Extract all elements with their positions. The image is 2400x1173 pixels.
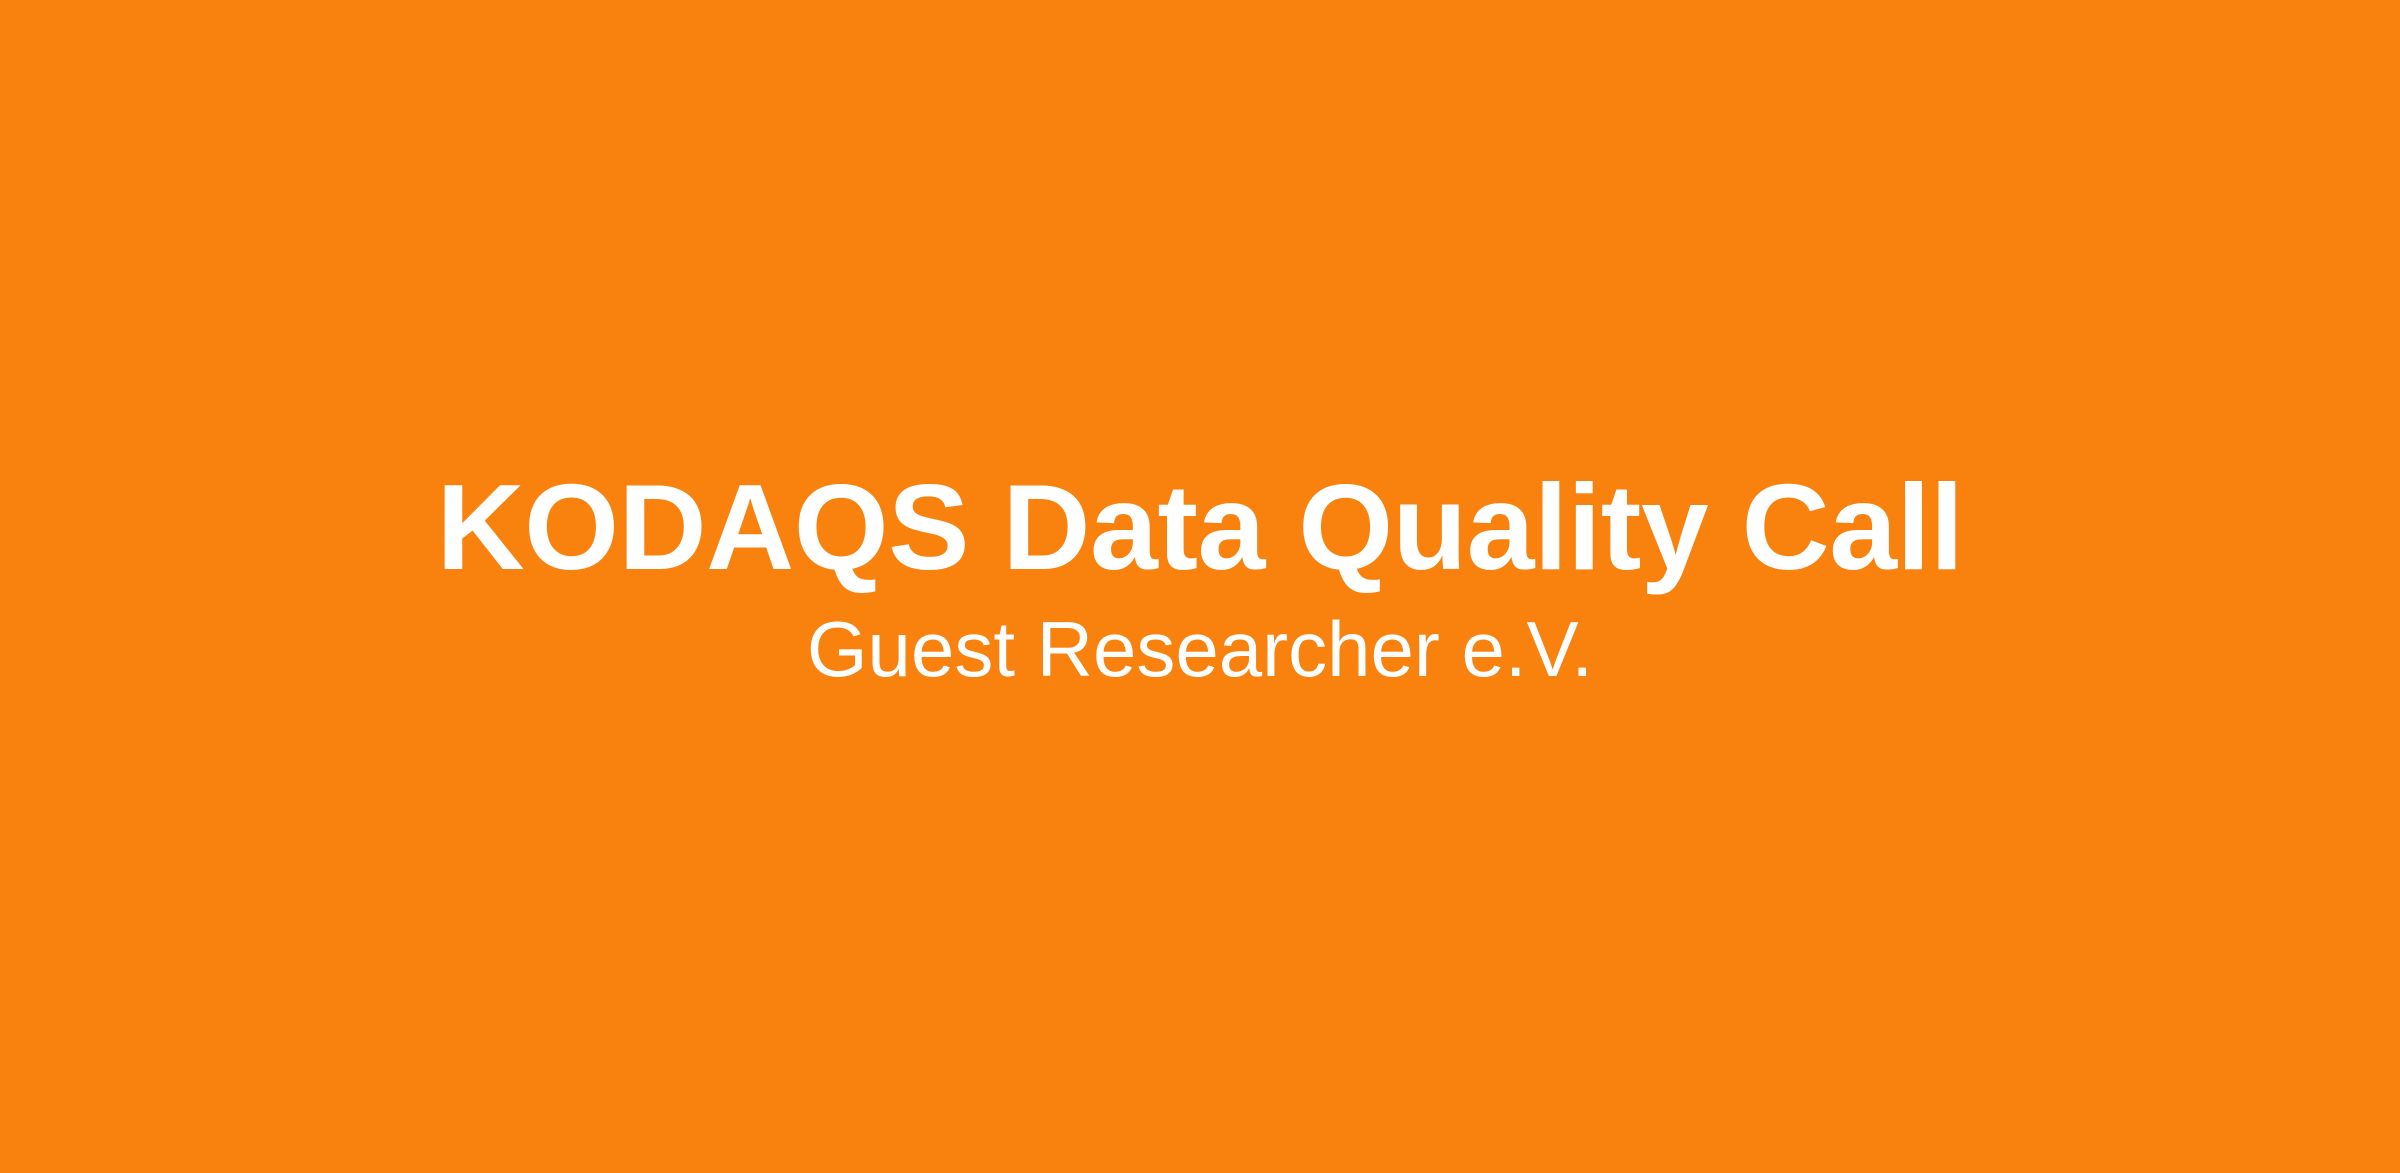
title-slide: KODAQS Data Quality Call Guest Researche… [0,0,2400,1173]
slide-subtitle: Guest Researcher e.V. [807,610,1593,688]
slide-title: KODAQS Data Quality Call [437,466,1964,588]
slide-content: KODAQS Data Quality Call Guest Researche… [0,0,2400,1173]
title-block: KODAQS Data Quality Call Guest Researche… [0,466,2400,688]
